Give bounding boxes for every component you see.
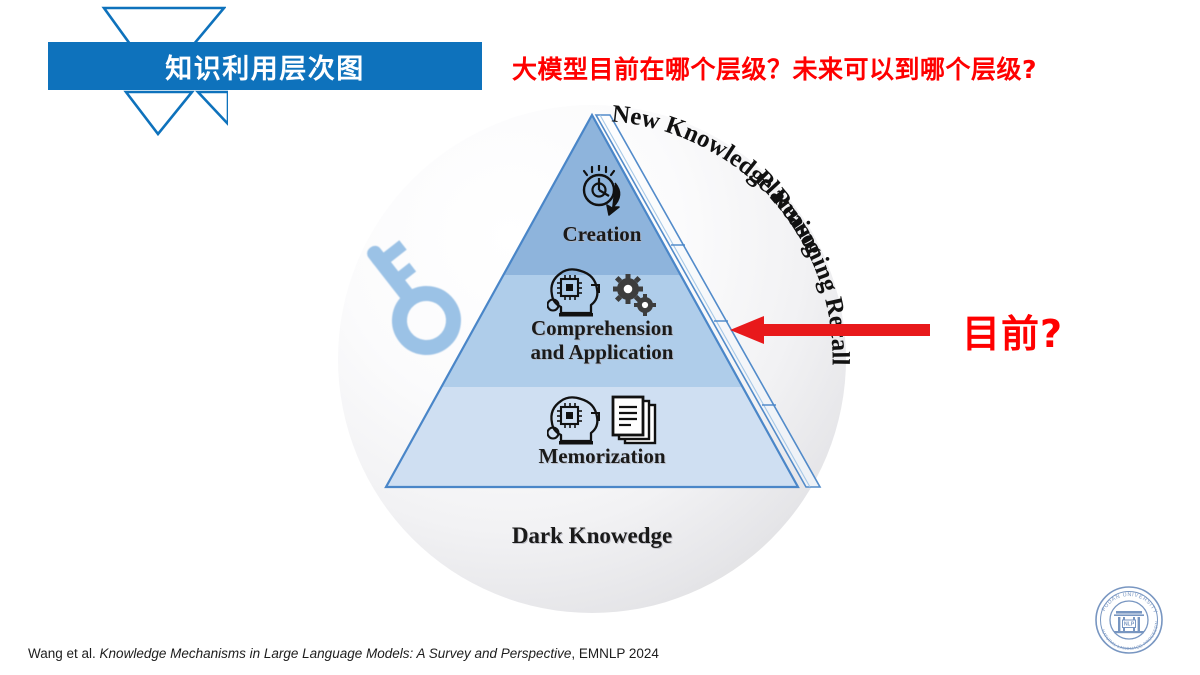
pyramid-shape <box>338 105 846 613</box>
knowledge-pyramid-figure: New Knowledge Reasoning Recall Planning <box>338 105 846 613</box>
title-decoration-top <box>98 6 226 46</box>
citation-title: Knowledge Mechanisms in Large Language M… <box>100 646 572 661</box>
slide-title: 知识利用层次图 <box>165 47 365 86</box>
svg-text:NLP: NLP <box>1124 622 1135 628</box>
left-arrow-icon <box>730 313 930 347</box>
headline-question: 大模型目前在哪个层级？未来可以到哪个层级? <box>512 50 1152 86</box>
fudan-nlp-logo: FUDAN UNIVERSITY NATURAL LANGUAGE PROCES… <box>1092 583 1166 657</box>
title-decoration-bottom <box>98 90 228 136</box>
slide-title-bar: 知识利用层次图 <box>48 42 482 90</box>
citation-venue: , EMNLP 2024 <box>571 646 659 661</box>
annotation-label: 目前? <box>962 303 1063 358</box>
citation-authors: Wang et al. <box>28 646 100 661</box>
footer-citation: Wang et al. Knowledge Mechanisms in Larg… <box>28 646 659 661</box>
